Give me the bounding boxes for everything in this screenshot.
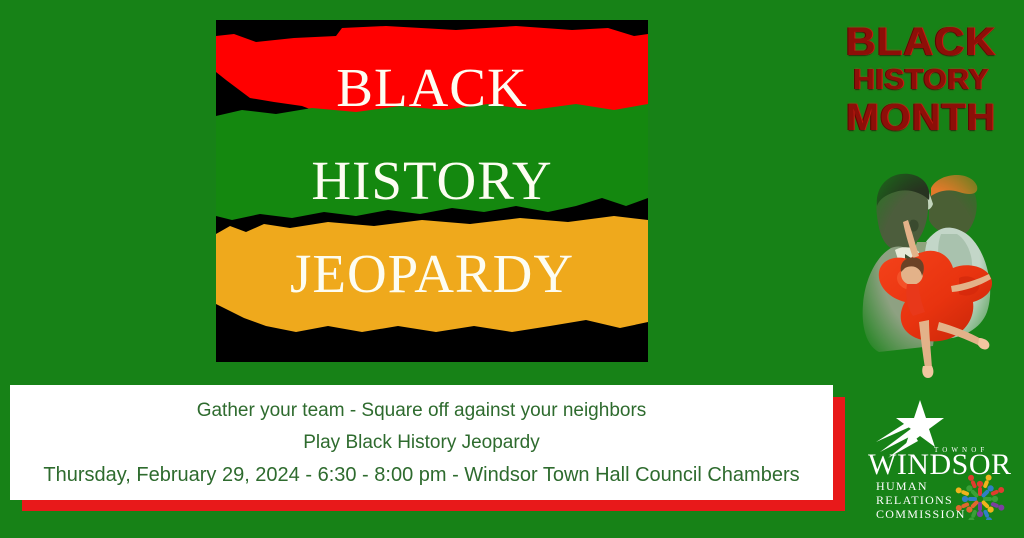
poster-line-jeopardy: JEOPARDY	[216, 246, 648, 302]
poster-line-black: BLACK	[216, 60, 648, 116]
town-of-windsor-hrc-logo: T O W N O F WINDSOR HUMAN RELATIONS COMM…	[862, 394, 1012, 520]
poster-artwork: BLACK HISTORY JEOPARDY	[216, 20, 648, 362]
banner-line-activity: Play Black History Jeopardy	[303, 427, 540, 459]
bhm-line-month: MONTH	[824, 99, 1017, 137]
banner-line-datetime-location: Thursday, February 29, 2024 - 6:30 - 8:0…	[43, 459, 799, 491]
bhm-line-history: HISTORY	[824, 66, 1017, 95]
bhm-line-black: BLACK	[824, 22, 1017, 62]
poster-line-history: HISTORY	[216, 153, 648, 209]
black-history-jeopardy-flyer: BLACK HISTORY JEOPARDY BLACK HISTORY MON…	[0, 0, 1024, 538]
black-history-month-wordmark: BLACK HISTORY MONTH	[828, 22, 1014, 137]
windsor-logo-graphic: T O W N O F WINDSOR HUMAN RELATIONS COMM…	[862, 394, 1012, 520]
event-info-banner: Gather your team - Square off against yo…	[10, 385, 833, 500]
logo-commission-line-2: RELATIONS	[876, 493, 953, 507]
logo-commission-line-3: COMMISSION	[876, 507, 966, 520]
collage-illustration	[855, 162, 1005, 382]
banner-line-invitation: Gather your team - Square off against yo…	[197, 395, 647, 427]
logo-commission-line-1: HUMAN	[876, 479, 928, 493]
photo-collage-image	[855, 162, 1005, 382]
